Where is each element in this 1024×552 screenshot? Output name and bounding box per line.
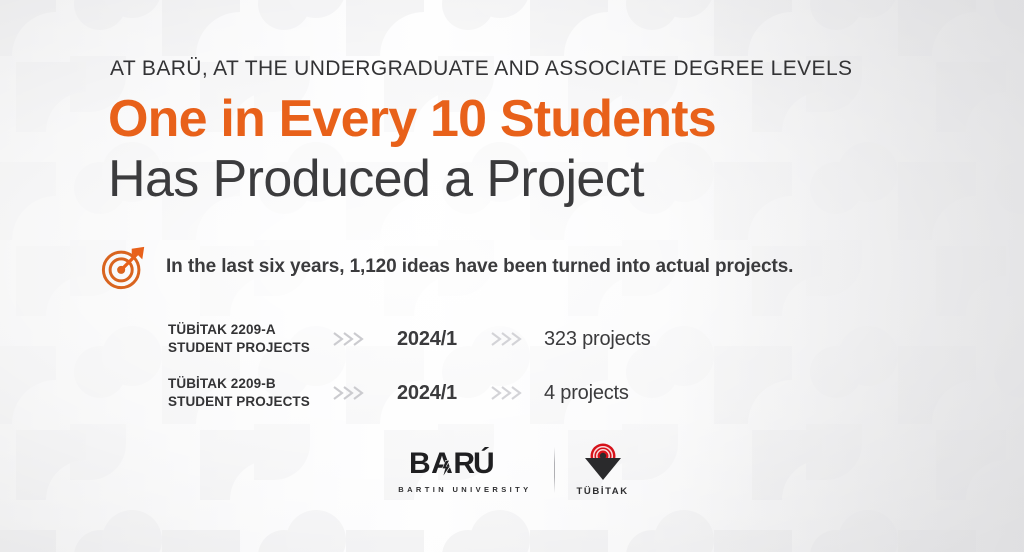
- row-count: 323 projects: [528, 328, 651, 351]
- target-arrow-icon: [100, 243, 150, 291]
- chevron-right-icon: [326, 330, 370, 348]
- row-label-line1: TÜBİTAK 2209-B: [168, 375, 326, 393]
- footer-logos: BAR Ú BARTIN UNIVERSITY: [0, 443, 1024, 497]
- tagline-row: In the last six years, 1,120 ideas have …: [100, 243, 793, 291]
- chevron-right-icon: [484, 384, 528, 402]
- tubitak-mark-icon: [578, 443, 628, 483]
- headline-highlight: One in Every 10 Students: [108, 92, 716, 147]
- baru-wordmark-icon: BAR Ú: [409, 447, 517, 480]
- projects-list: TÜBİTAK 2209-A STUDENT PROJECTS 2024/1: [168, 316, 651, 424]
- baru-subtitle: BARTIN UNIVERSITY: [395, 485, 531, 494]
- baru-logo: BAR Ú BARTIN UNIVERSITY: [395, 447, 531, 494]
- row-label-line1: TÜBİTAK 2209-A: [168, 321, 326, 339]
- svg-text:Ú: Ú: [473, 447, 495, 480]
- row-label-line2: STUDENT PROJECTS: [168, 339, 326, 357]
- footer-divider: [554, 447, 555, 493]
- tubitak-wordmark: TÜBİTAK: [577, 486, 629, 497]
- headline-subline: Has Produced a Project: [108, 152, 644, 207]
- poster-content: AT BARÜ, AT THE UNDERGRADUATE AND ASSOCI…: [0, 0, 1024, 552]
- eyebrow-text: AT BARÜ, AT THE UNDERGRADUATE AND ASSOCI…: [110, 57, 852, 81]
- tagline-text: In the last six years, 1,120 ideas have …: [166, 256, 793, 278]
- row-period: 2024/1: [370, 328, 484, 351]
- table-row: TÜBİTAK 2209-A STUDENT PROJECTS 2024/1: [168, 316, 651, 362]
- row-count: 4 projects: [528, 382, 629, 405]
- row-label: TÜBİTAK 2209-B STUDENT PROJECTS: [168, 375, 326, 411]
- table-row: TÜBİTAK 2209-B STUDENT PROJECTS 2024/1: [168, 370, 651, 416]
- chevron-right-icon: [326, 384, 370, 402]
- row-label: TÜBİTAK 2209-A STUDENT PROJECTS: [168, 321, 326, 357]
- tubitak-logo: TÜBİTAK: [577, 443, 629, 497]
- chevron-right-icon: [484, 330, 528, 348]
- row-label-line2: STUDENT PROJECTS: [168, 393, 326, 411]
- svg-text:BAR: BAR: [409, 447, 476, 480]
- row-period: 2024/1: [370, 382, 484, 405]
